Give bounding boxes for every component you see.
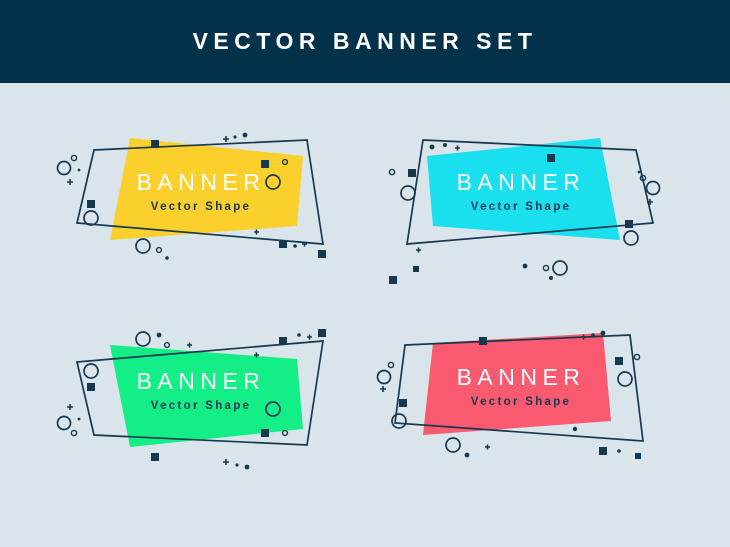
dot-icon	[617, 449, 621, 453]
dot-icon	[78, 418, 81, 421]
square-icon	[615, 357, 623, 365]
banner-subtitle: Vector Shape	[151, 400, 251, 412]
banner-card-red[interactable]: BANNER Vector Shape	[375, 323, 675, 483]
plus-icon	[416, 248, 421, 253]
square-icon	[413, 266, 419, 272]
square-icon	[318, 329, 326, 337]
banner-title: BANNER	[457, 169, 586, 195]
dot-icon	[78, 169, 81, 172]
plus-icon	[485, 445, 490, 450]
circle-outline-icon	[647, 182, 660, 195]
square-icon	[261, 429, 269, 437]
dot-icon	[543, 265, 548, 270]
square-icon	[479, 337, 487, 345]
square-icon	[279, 337, 287, 345]
banner-grid: BANNER Vector Shape	[0, 83, 730, 547]
circle-outline-icon	[378, 371, 391, 384]
dot-icon	[235, 463, 238, 466]
circle-outline-icon	[618, 372, 632, 386]
circle-outline-icon	[71, 155, 76, 160]
banner-title: BANNER	[457, 364, 586, 390]
dot-icon	[165, 343, 170, 348]
banner-card-green[interactable]: BANNER Vector Shape	[55, 323, 355, 483]
circle-outline-icon	[84, 211, 98, 225]
circle-outline-icon	[446, 438, 460, 452]
dot-icon	[297, 333, 301, 337]
circle-outline-icon	[388, 362, 393, 367]
plus-icon	[187, 343, 192, 348]
dot-icon	[523, 264, 528, 269]
plus-icon	[67, 179, 73, 185]
circle-outline-icon	[392, 414, 406, 428]
square-icon	[389, 276, 397, 284]
dot-icon	[157, 248, 162, 253]
banner-subtitle: Vector Shape	[471, 396, 571, 408]
dot-icon	[601, 331, 606, 336]
dot-icon	[293, 244, 297, 248]
banner-fill-shape	[110, 345, 303, 447]
square-icon	[625, 220, 633, 228]
circle-outline-icon	[58, 162, 71, 175]
circle-outline-icon	[401, 186, 415, 200]
square-icon	[599, 447, 607, 455]
banner-title: BANNER	[137, 169, 266, 195]
dot-icon	[245, 465, 250, 470]
square-icon	[87, 200, 95, 208]
dot-icon	[573, 427, 577, 431]
dot-icon	[389, 169, 394, 174]
dot-icon	[443, 143, 447, 147]
square-icon	[408, 169, 416, 177]
plus-icon	[254, 230, 259, 235]
dot-icon	[591, 333, 595, 337]
circle-outline-icon	[624, 231, 638, 245]
square-icon	[279, 240, 287, 248]
dot-icon	[243, 133, 248, 138]
dot-icon	[430, 145, 435, 150]
header-bar: VECTOR BANNER SET	[0, 0, 730, 83]
plus-icon	[223, 459, 229, 465]
plus-icon	[223, 136, 229, 142]
dot-icon	[549, 276, 553, 280]
dot-icon	[165, 256, 169, 260]
banner-card-yellow[interactable]: BANNER Vector Shape	[55, 128, 355, 288]
banner-subtitle: Vector Shape	[471, 201, 571, 213]
plus-icon	[307, 335, 312, 340]
square-icon	[635, 453, 641, 459]
square-icon	[151, 453, 159, 461]
banner-title: BANNER	[137, 368, 266, 394]
circle-outline-icon	[84, 364, 98, 378]
circle-outline-icon	[136, 239, 150, 253]
banner-subtitle: Vector Shape	[151, 201, 251, 213]
dot-icon	[283, 431, 288, 436]
circle-outline-icon	[58, 417, 71, 430]
circle-outline-icon	[553, 261, 567, 275]
square-icon	[399, 399, 407, 407]
square-icon	[261, 160, 269, 168]
plus-icon	[380, 386, 386, 392]
banner-card-cyan[interactable]: BANNER Vector Shape	[375, 128, 675, 288]
square-icon	[318, 250, 326, 258]
circle-outline-icon	[136, 332, 150, 346]
page-title: VECTOR BANNER SET	[193, 28, 538, 55]
plus-icon	[455, 146, 460, 151]
square-icon	[547, 154, 555, 162]
dot-icon	[634, 354, 639, 359]
circle-outline-icon	[71, 430, 76, 435]
dot-icon	[233, 135, 236, 138]
square-icon	[151, 140, 159, 148]
dot-icon	[157, 333, 162, 338]
square-icon	[87, 383, 95, 391]
plus-icon	[67, 404, 73, 410]
dot-icon	[638, 171, 641, 174]
dot-icon	[465, 453, 470, 458]
poster-canvas: VECTOR BANNER SET	[0, 0, 730, 547]
